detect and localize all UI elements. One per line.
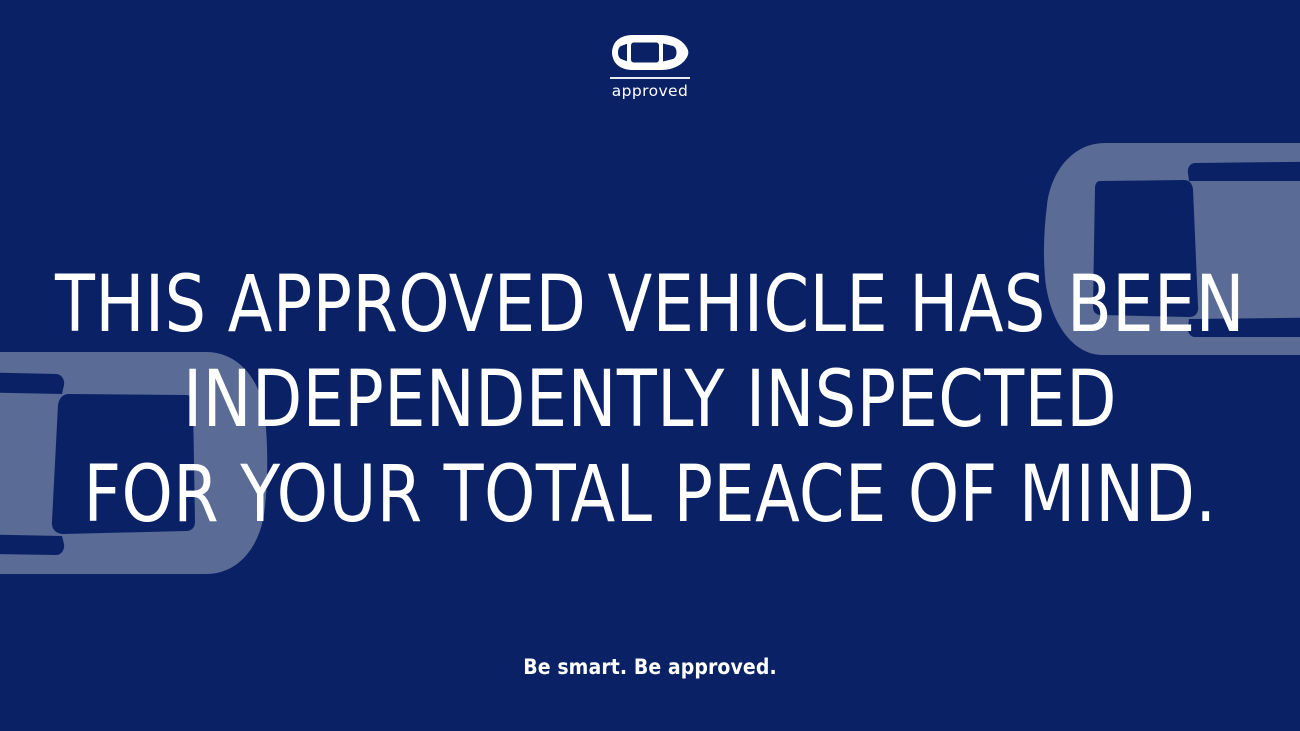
- headline: THIS APPROVED VEHICLE HAS BEEN INDEPENDE…: [0, 258, 1300, 543]
- logo-wordmark: approved: [612, 83, 688, 100]
- brand-logo: approved: [0, 34, 1300, 100]
- slide-canvas: approved THIS APPROVED VEHICLE HAS BEEN …: [0, 0, 1300, 731]
- headline-line-3: FOR YOUR TOTAL PEACE OF MIND.: [46, 448, 1255, 543]
- car-top-view-icon: [611, 34, 689, 71]
- tagline: Be smart. Be approved.: [0, 655, 1300, 679]
- headline-line-1: THIS APPROVED VEHICLE HAS BEEN: [46, 258, 1255, 353]
- headline-line-2: INDEPENDENTLY INSPECTED: [46, 353, 1255, 448]
- logo-divider: [610, 77, 690, 79]
